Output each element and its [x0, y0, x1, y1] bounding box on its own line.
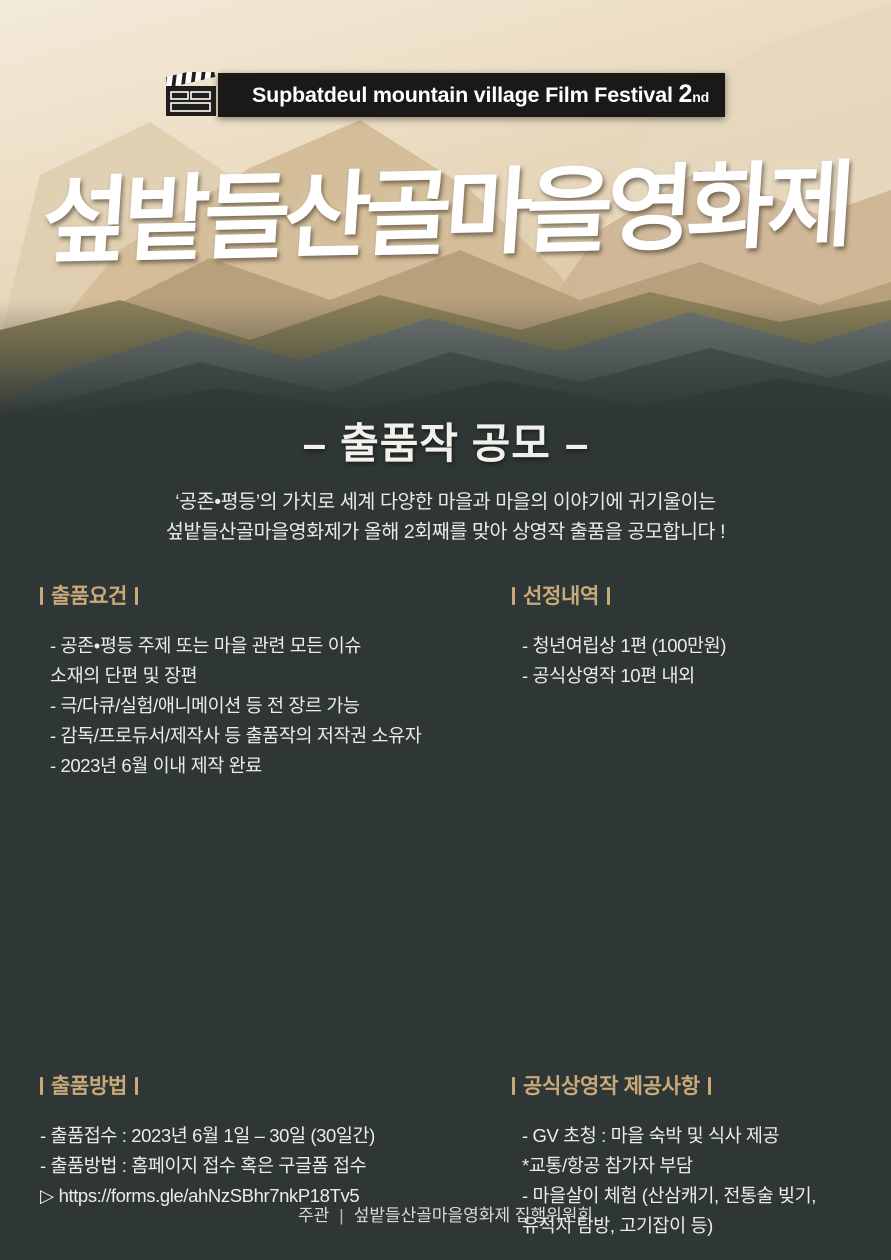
section-provisions-title: 공식상영작 제공사항 [512, 1070, 891, 1100]
banner-edition-ordinal: nd [692, 89, 709, 105]
headline-text: 출품작 공모 [340, 420, 551, 467]
section-requirements-label: 출품요건 [51, 585, 127, 608]
section-method-label: 출품방법 [51, 1075, 127, 1098]
banner-edition-number: 2 [679, 80, 693, 108]
title-bar-icon [135, 1077, 138, 1095]
intro-line-2: 섶밭들산골마을영화제가 올해 2회째를 맞아 상영작 출품을 공모합니다 ! [0, 517, 891, 547]
section-provisions-label: 공식상영작 제공사항 [523, 1075, 700, 1098]
headline-dash-right: – [551, 420, 602, 467]
title-bar-icon [607, 587, 610, 605]
section-method: 출품방법 - 출품접수 : 2023년 6월 1일 – 30일 (30일간) -… [40, 1070, 500, 1211]
section-selection: 선정내역 - 청년여립상 1편 (100만원) - 공식상영작 10편 내외 [512, 580, 882, 691]
section-method-title: 출품방법 [40, 1070, 500, 1100]
intro-paragraph: ‘공존•평등’의 가치로 세계 다양한 마을과 마을의 이야기에 귀기울이는 섶… [0, 487, 891, 547]
section-method-body[interactable]: - 출품접수 : 2023년 6월 1일 – 30일 (30일간) - 출품방법… [40, 1121, 500, 1211]
section-selection-body: - 청년여립상 1편 (100만원) - 공식상영작 10편 내외 [512, 631, 882, 691]
section-selection-title: 선정내역 [512, 580, 882, 610]
banner-title-text: Supbatdeul mountain village Film Festiva… [252, 83, 678, 107]
section-requirements-title: 출품요건 [40, 580, 500, 610]
footer-label: 주관 [298, 1206, 329, 1225]
page-title: –출품작 공모– [0, 410, 891, 471]
intro-line-1: ‘공존•평등’의 가치로 세계 다양한 마을과 마을의 이야기에 귀기울이는 [0, 487, 891, 517]
poster-root: Supbatdeul mountain village Film Festiva… [0, 0, 891, 1260]
section-requirements: 출품요건 - 공존•평등 주제 또는 마을 관련 모든 이슈 소재의 단편 및 … [40, 580, 500, 781]
footer-organizer-name: 섶밭들산골마을영화제 집행위원회 [354, 1206, 593, 1225]
festival-title-calligraphy: 섶밭들산골마을영화제 [0, 159, 891, 272]
banner-text: Supbatdeul mountain village Film Festiva… [218, 73, 725, 117]
title-bar-icon [135, 587, 138, 605]
title-bar-icon [40, 587, 43, 605]
title-bar-icon [512, 1077, 515, 1095]
section-requirements-body: - 공존•평등 주제 또는 마을 관련 모든 이슈 소재의 단편 및 장편 - … [40, 631, 500, 781]
content-row-1: 출품요건 - 공존•평등 주제 또는 마을 관련 모든 이슈 소재의 단편 및 … [0, 580, 891, 828]
headline-dash-left: – [289, 420, 340, 467]
festival-banner: Supbatdeul mountain village Film Festiva… [0, 72, 891, 118]
title-bar-icon [708, 1077, 711, 1095]
title-bar-icon [40, 1077, 43, 1095]
clapperboard-icon [166, 72, 222, 118]
section-selection-label: 선정내역 [523, 585, 599, 608]
footer-organizer: 주관|섶밭들산골마을영화제 집행위원회 [0, 1201, 891, 1226]
footer-separator: | [329, 1206, 353, 1225]
content-grid: 출품요건 - 공존•평등 주제 또는 마을 관련 모든 이슈 소재의 단편 및 … [0, 580, 891, 828]
title-bar-icon [512, 587, 515, 605]
